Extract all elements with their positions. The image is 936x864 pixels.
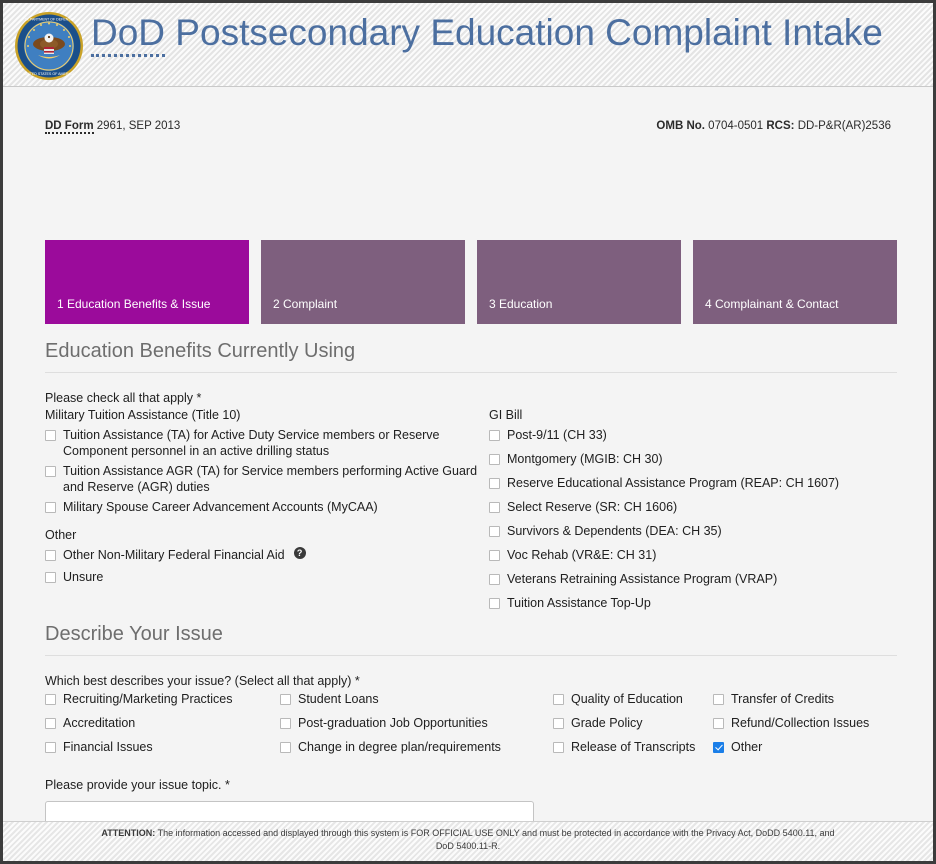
form-page: DD Form 2961, SEP 2013 OMB No. 0704-0501… [3, 87, 933, 835]
checkbox-ta-active-duty[interactable] [45, 430, 56, 441]
omb-value: 0704-0501 [705, 120, 766, 132]
checkbox-label: Tuition Assistance (TA) for Active Duty … [63, 427, 485, 459]
checkbox-label: Post-graduation Job Opportunities [298, 715, 488, 731]
checkbox-label: Military Spouse Career Advancement Accou… [63, 499, 378, 515]
checkbox-row-grade-policy[interactable]: Grade Policy [553, 715, 713, 731]
checkbox-label: Change in degree plan/requirements [298, 739, 501, 755]
checkbox-row-quality-of-education[interactable]: Quality of Education [553, 691, 713, 707]
wizard-step-tabs: 1 Education Benefits & Issue 2 Complaint… [45, 240, 897, 324]
checkbox-other-issue[interactable] [713, 742, 724, 753]
checkbox-row-reap[interactable]: Reserve Educational Assistance Program (… [489, 475, 889, 491]
svg-text:DEPARTMENT OF DEFENSE: DEPARTMENT OF DEFENSE [25, 18, 74, 22]
benefits-section: Please check all that apply * Military T… [45, 390, 897, 619]
tab-label: 2 Complaint [273, 297, 337, 311]
checkbox-label: Survivors & Dependents (DEA: CH 35) [507, 523, 722, 539]
checkbox-label: Accreditation [63, 715, 135, 731]
tab-education[interactable]: 3 Education [477, 240, 681, 324]
page-banner: DEPARTMENT OF DEFENSE UNITED STATES OF A… [3, 3, 933, 87]
attention-footer: ATTENTION: The information accessed and … [3, 821, 933, 861]
checkbox-reap[interactable] [489, 478, 500, 489]
issue-topic-label: Please provide your issue topic. * [45, 777, 897, 793]
tab-label: 3 Education [489, 297, 552, 311]
application-window: DEPARTMENT OF DEFENSE UNITED STATES OF A… [0, 0, 936, 864]
checkbox-label: Voc Rehab (VR&E: CH 31) [507, 547, 656, 563]
checkbox-post-graduation-jobs[interactable] [280, 718, 291, 729]
checkbox-grade-policy[interactable] [553, 718, 564, 729]
issue-column-2: Student Loans Post-graduation Job Opport… [280, 691, 553, 763]
checkbox-label: Quality of Education [571, 691, 683, 707]
checkbox-label: Student Loans [298, 691, 379, 707]
rcs-value: DD-P&R(AR)2536 [795, 120, 892, 132]
checkbox-row-accreditation[interactable]: Accreditation [45, 715, 280, 731]
section-heading-benefits: Education Benefits Currently Using [45, 340, 897, 373]
checkbox-label: Reserve Educational Assistance Program (… [507, 475, 839, 491]
checkbox-row-unsure[interactable]: Unsure [45, 569, 485, 585]
checkbox-release-of-transcripts[interactable] [553, 742, 564, 753]
tab-complaint[interactable]: 2 Complaint [261, 240, 465, 324]
checkbox-label: Post-9/11 (CH 33) [507, 427, 607, 443]
checkbox-label: Grade Policy [571, 715, 643, 731]
svg-text:UNITED STATES OF AMERICA: UNITED STATES OF AMERICA [24, 72, 76, 76]
rcs-label: RCS: [766, 120, 794, 132]
checkbox-vrap[interactable] [489, 574, 500, 585]
checkbox-label: Other Non-Military Federal Financial Aid [63, 547, 285, 563]
checkbox-financial-issues[interactable] [45, 742, 56, 753]
issue-column-3: Quality of Education Grade Policy Releas… [553, 691, 713, 763]
checkbox-label: Release of Transcripts [571, 739, 695, 755]
checkbox-ta-top-up[interactable] [489, 598, 500, 609]
checkbox-label: Select Reserve (SR: CH 1606) [507, 499, 677, 515]
checkbox-unsure[interactable] [45, 572, 56, 583]
checkbox-label: Tuition Assistance Top-Up [507, 595, 651, 611]
attention-line-2: DoD 5400.11-R. [436, 841, 500, 851]
dd-form-value: 2961, SEP 2013 [94, 120, 181, 132]
military-ta-group-title: Military Tuition Assistance (Title 10) [45, 407, 485, 423]
issue-topic-field-group: Please provide your issue topic. * [45, 777, 897, 827]
tab-label: 4 Complainant & Contact [705, 297, 838, 311]
checkbox-row-financial-issues[interactable]: Financial Issues [45, 739, 280, 755]
page-title-dod: DoD [91, 12, 165, 57]
checkbox-label: Unsure [63, 569, 103, 585]
checkbox-survivors-dependents[interactable] [489, 526, 500, 537]
help-question-icon[interactable]: ? [294, 547, 306, 559]
checkbox-label: Financial Issues [63, 739, 153, 755]
checkbox-recruiting-marketing[interactable] [45, 694, 56, 705]
checkbox-row-post-911[interactable]: Post-9/11 (CH 33) [489, 427, 889, 443]
checkbox-label: Tuition Assistance AGR (TA) for Service … [63, 463, 485, 495]
checkbox-refund-collection-issues[interactable] [713, 718, 724, 729]
page-title-rest: Postsecondary Education Complaint Intake [165, 12, 883, 53]
checkbox-label: Veterans Retraining Assistance Program (… [507, 571, 777, 587]
attention-label: ATTENTION: [101, 828, 155, 838]
other-group-title: Other [45, 527, 485, 543]
checkbox-transfer-of-credits[interactable] [713, 694, 724, 705]
checkbox-mycaa[interactable] [45, 502, 56, 513]
checkbox-post-911[interactable] [489, 430, 500, 441]
checkbox-other-federal-aid[interactable] [45, 550, 56, 561]
benefits-left-column: Military Tuition Assistance (Title 10) T… [45, 407, 485, 619]
checkbox-row-ta-active-duty[interactable]: Tuition Assistance (TA) for Active Duty … [45, 427, 485, 459]
checkbox-ta-agr[interactable] [45, 466, 56, 477]
checkbox-voc-rehab[interactable] [489, 550, 500, 561]
checkbox-label: Montgomery (MGIB: CH 30) [507, 451, 663, 467]
page-title: DoD Postsecondary Education Complaint In… [91, 12, 883, 54]
benefits-right-column: GI Bill Post-9/11 (CH 33) Montgomery (MG… [489, 407, 889, 619]
checkbox-quality-of-education[interactable] [553, 694, 564, 705]
omb-number: OMB No. 0704-0501 RCS: DD-P&R(AR)2536 [656, 120, 891, 132]
gi-bill-group-title: GI Bill [489, 407, 889, 423]
checkbox-row-change-degree-plan[interactable]: Change in degree plan/requirements [280, 739, 553, 755]
checkbox-student-loans[interactable] [280, 694, 291, 705]
checkbox-label: Other [731, 739, 762, 755]
omb-label: OMB No. [656, 120, 705, 132]
checkbox-row-ta-agr[interactable]: Tuition Assistance AGR (TA) for Service … [45, 463, 485, 495]
checkbox-row-refund-collection-issues[interactable]: Refund/Collection Issues [713, 715, 893, 731]
dod-seal-icon: DEPARTMENT OF DEFENSE UNITED STATES OF A… [14, 11, 84, 81]
issue-column-4: Transfer of Credits Refund/Collection Is… [713, 691, 893, 763]
form-meta-row: DD Form 2961, SEP 2013 OMB No. 0704-0501… [45, 87, 891, 140]
checkbox-label: Transfer of Credits [731, 691, 834, 707]
checkbox-accreditation[interactable] [45, 718, 56, 729]
checkbox-row-select-reserve[interactable]: Select Reserve (SR: CH 1606) [489, 499, 889, 515]
checkbox-select-reserve[interactable] [489, 502, 500, 513]
checkbox-change-degree-plan[interactable] [280, 742, 291, 753]
checkbox-row-student-loans[interactable]: Student Loans [280, 691, 553, 707]
checkbox-row-other-federal-aid[interactable]: Other Non-Military Federal Financial Aid… [45, 547, 485, 563]
checkbox-row-mycaa[interactable]: Military Spouse Career Advancement Accou… [45, 499, 485, 515]
checkbox-row-survivors-dependents[interactable]: Survivors & Dependents (DEA: CH 35) [489, 523, 889, 539]
checkbox-row-release-of-transcripts[interactable]: Release of Transcripts [553, 739, 713, 755]
dd-form-number: DD Form 2961, SEP 2013 [45, 120, 180, 132]
issue-column-1: Recruiting/Marketing Practices Accredita… [45, 691, 280, 763]
checkbox-label: Refund/Collection Issues [731, 715, 869, 731]
checkbox-montgomery[interactable] [489, 454, 500, 465]
checkbox-row-voc-rehab[interactable]: Voc Rehab (VR&E: CH 31) [489, 547, 889, 563]
dd-form-label: DD Form [45, 120, 94, 134]
section-heading-issue: Describe Your Issue [45, 623, 897, 656]
attention-line-1: The information accessed and displayed t… [155, 828, 834, 838]
tab-complainant-contact[interactable]: 4 Complainant & Contact [693, 240, 897, 324]
tab-education-benefits-issue[interactable]: 1 Education Benefits & Issue [45, 240, 249, 324]
checkbox-row-recruiting-marketing[interactable]: Recruiting/Marketing Practices [45, 691, 280, 707]
checkbox-row-transfer-of-credits[interactable]: Transfer of Credits [713, 691, 893, 707]
checkbox-label: Recruiting/Marketing Practices [63, 691, 233, 707]
tab-label: 1 Education Benefits & Issue [57, 297, 210, 311]
issue-prompt: Which best describes your issue? (Select… [45, 673, 897, 689]
checkbox-row-montgomery[interactable]: Montgomery (MGIB: CH 30) [489, 451, 889, 467]
checkbox-row-vrap[interactable]: Veterans Retraining Assistance Program (… [489, 571, 889, 587]
issue-section: Which best describes your issue? (Select… [45, 673, 897, 763]
checkbox-row-other-issue[interactable]: Other [713, 739, 893, 755]
checkbox-row-post-graduation-jobs[interactable]: Post-graduation Job Opportunities [280, 715, 553, 731]
checkbox-row-ta-top-up[interactable]: Tuition Assistance Top-Up [489, 595, 889, 611]
benefits-prompt: Please check all that apply * [45, 390, 897, 406]
